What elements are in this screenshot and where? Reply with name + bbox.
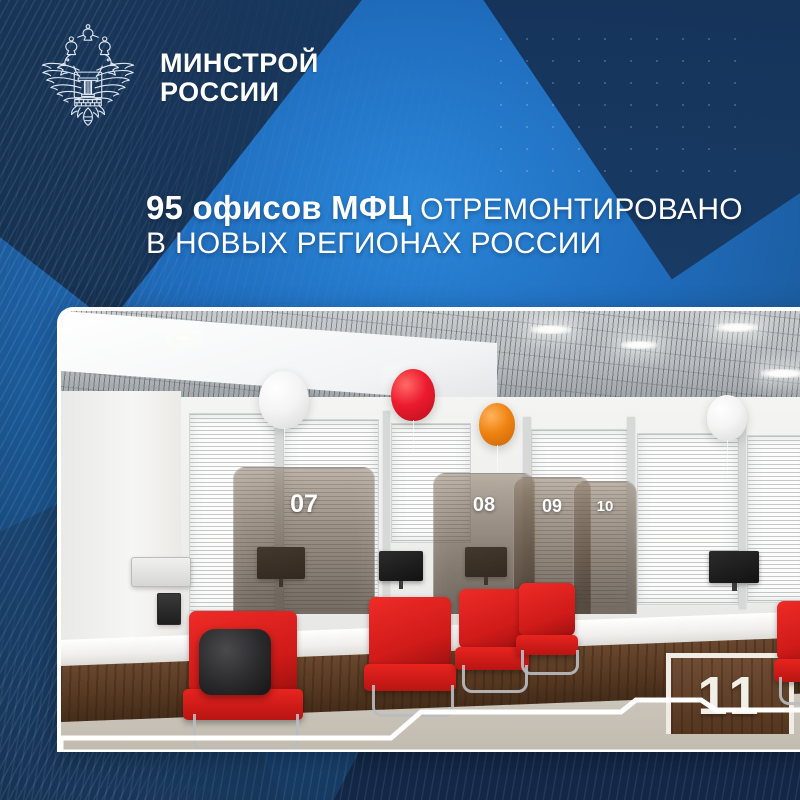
- ceiling-light: [531, 325, 571, 334]
- visitor-chair: [369, 597, 451, 717]
- headline-line-1: 95 офисов МФЦ ОТРЕМОНТИРОВАНО: [146, 190, 786, 227]
- headline-line-1-rest: ОТРЕМОНТИРОВАНО: [412, 193, 743, 226]
- visitor-chair: [777, 601, 800, 705]
- workstation-monitor: [379, 551, 423, 581]
- headline-number-phrase: 95 офисов МФЦ: [146, 189, 412, 226]
- russian-double-headed-eagle-emblem: [34, 22, 142, 134]
- chair-legs: [779, 677, 800, 705]
- counter-screen: 10: [573, 481, 637, 614]
- ceiling-light: [761, 369, 800, 378]
- balloon-red: [391, 369, 435, 421]
- chair-back: [519, 583, 575, 636]
- brand-name-line-1: МИНСТРОЙ: [160, 48, 319, 78]
- chair-legs: [193, 714, 298, 751]
- office-photo-frame: 07 08 09 10 11: [57, 307, 800, 752]
- chair-legs: [372, 685, 453, 717]
- backpack: [199, 629, 271, 695]
- desk-number: 11: [697, 669, 762, 723]
- chair-back: [369, 597, 451, 667]
- counter-number: 09: [542, 496, 562, 517]
- counter-screen: 07: [233, 467, 375, 614]
- chair-legs: [521, 650, 579, 675]
- counter-number: 07: [290, 490, 318, 519]
- balloon-white: [259, 371, 309, 429]
- window-mullion: [383, 411, 390, 611]
- brand-name: МИНСТРОЙ РОССИИ: [160, 49, 319, 107]
- ceiling-light: [716, 323, 758, 332]
- balloon-white: [707, 395, 747, 441]
- balloon-orange: [479, 403, 515, 446]
- counter-number: 08: [473, 494, 495, 517]
- headline: 95 офисов МФЦ ОТРЕМОНТИРОВАНО В НОВЫХ РЕ…: [146, 190, 786, 261]
- headline-line-2: В НОВЫХ РЕГИОНАХ РОССИИ: [146, 227, 786, 261]
- visitor-chair: [519, 583, 575, 675]
- printer: [131, 557, 191, 587]
- counter-number: 10: [597, 498, 614, 515]
- office-photo: 07 08 09 10 11: [61, 311, 800, 752]
- brand-logo: МИНСТРОЙ РОССИИ: [34, 22, 319, 134]
- workstation-monitor: [709, 551, 759, 583]
- pen-holder: [157, 593, 181, 625]
- brand-name-line-2: РОССИИ: [160, 78, 319, 107]
- promo-card: МИНСТРОЙ РОССИИ 95 офисов МФЦ ОТРЕМОНТИР…: [0, 0, 800, 800]
- chair-back: [777, 601, 800, 661]
- ceiling-light: [621, 341, 657, 349]
- ceiling-light: [169, 333, 199, 343]
